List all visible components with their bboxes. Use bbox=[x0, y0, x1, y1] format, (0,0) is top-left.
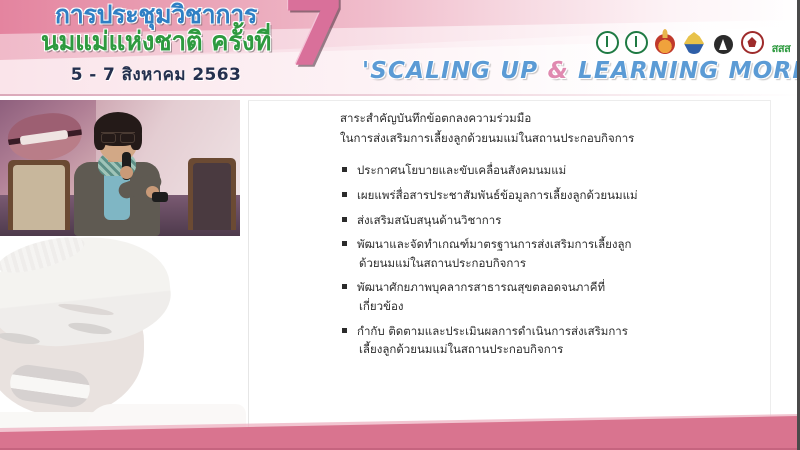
bullet-line: กำกับ ติดตามและประเมินผลการดำเนินการส่งเ… bbox=[357, 322, 700, 341]
presentation-slide: การประชุมวิชาการ นมแม่แห่งชาติ ครั้งที่ … bbox=[0, 0, 800, 450]
black-circle-emblem-logo bbox=[711, 24, 735, 54]
speaker-eyeglasses bbox=[101, 132, 135, 141]
conference-date: 5 - 7 สิงหาคม 2563 bbox=[16, 61, 296, 88]
content-panel-right-edge bbox=[770, 100, 771, 430]
tagline-prefix: 'SCALING UP bbox=[362, 58, 548, 84]
content-lead-line-2: ในการส่งเสริมการเลี้ยงลูกด้วยนมแม่ในสถาน… bbox=[340, 128, 700, 148]
conference-title-line2: นมแม่แห่งชาติ ครั้งที่ bbox=[16, 29, 296, 56]
bullet-line: ส่งเสริมสนับสนุนด้านวิชาการ bbox=[357, 211, 700, 230]
list-item: พัฒนาและจัดทำเกณฑ์มาตรฐานการส่งเสริมการเ… bbox=[340, 235, 700, 272]
bullet-line: พัฒนาศักยภาพบุคลากรสาธารณสุขตลอดจนภาคีที… bbox=[357, 278, 700, 297]
speaker-presentation-photo bbox=[0, 100, 240, 236]
slide-content: สาระสำคัญบันทึกข้อตกลงความร่วมมือ ในการส… bbox=[340, 108, 700, 365]
department-of-health-logo bbox=[624, 24, 648, 54]
speaker-hand bbox=[120, 166, 133, 179]
smiling-child-in-sun-hat-photo bbox=[0, 236, 248, 450]
presenter-remote-icon bbox=[152, 192, 168, 202]
sponsor-logo-strip: สสส bbox=[566, 24, 793, 54]
content-lead-line-1: สาระสำคัญบันทึกข้อตกลงความร่วมมือ bbox=[340, 108, 700, 128]
conference-title-block: การประชุมวิชาการ นมแม่แห่งชาติ ครั้งที่ … bbox=[16, 2, 296, 88]
list-item: ประกาศนโยบายและขับเคลื่อนสังคมนมแม่ bbox=[340, 161, 700, 180]
conference-title-line1: การประชุมวิชาการ bbox=[16, 2, 296, 28]
tagline-ampersand: & bbox=[548, 58, 569, 84]
child-shirt bbox=[86, 404, 246, 450]
stage-chair-left bbox=[8, 160, 70, 230]
bullet-line: เลี้ยงลูกด้วยนมแม่ในสถานประกอบกิจการ bbox=[357, 340, 700, 359]
content-bullet-list: ประกาศนโยบายและขับเคลื่อนสังคมนมแม่ เผยแ… bbox=[340, 161, 700, 359]
content-divider bbox=[248, 100, 249, 430]
watermark-inner bbox=[0, 236, 244, 450]
media-column bbox=[0, 96, 248, 450]
ministry-of-public-health-logo bbox=[595, 24, 619, 54]
bullet-line: พัฒนาและจัดทำเกณฑ์มาตรฐานการส่งเสริมการเ… bbox=[357, 235, 700, 254]
stage-chair-right bbox=[188, 158, 236, 230]
bullet-line: ประกาศนโยบายและขับเคลื่อนสังคมนมแม่ bbox=[357, 161, 700, 180]
thai-crown-emblem-logo bbox=[653, 24, 677, 54]
bullet-line: ด้วยนมแม่ในสถานประกอบกิจการ bbox=[357, 254, 700, 273]
list-item: ส่งเสริมสนับสนุนด้านวิชาการ bbox=[340, 211, 700, 230]
bullet-line: เกี่ยวข้อง bbox=[357, 297, 700, 316]
content-lead: สาระสำคัญบันทึกข้อตกลงความร่วมมือ ในการส… bbox=[340, 108, 700, 148]
list-item: เผยแพร่สื่อสารประชาสัมพันธ์ข้อมูลการเลี้… bbox=[340, 186, 700, 205]
tagline-suffix: LEARNING MORE' bbox=[569, 58, 800, 84]
red-circle-emblem-logo bbox=[740, 24, 764, 54]
bullet-line: เผยแพร่สื่อสารประชาสัมพันธ์ข้อมูลการเลี้… bbox=[357, 186, 700, 205]
edition-number: 7 bbox=[282, 0, 346, 80]
thaihealth-sss-logo: สสส bbox=[769, 24, 793, 54]
royal-emblem-logo bbox=[566, 24, 590, 54]
list-item: พัฒนาศักยภาพบุคลากรสาธารณสุขตลอดจนภาคีที… bbox=[340, 278, 700, 315]
list-item: กำกับ ติดตามและประเมินผลการดำเนินการส่งเ… bbox=[340, 322, 700, 359]
conference-tagline: 'SCALING UP & LEARNING MORE' bbox=[362, 58, 800, 84]
thaihealth-wordmark: สสส bbox=[772, 43, 791, 54]
content-panel-top-edge bbox=[248, 100, 771, 101]
garuda-emblem-logo bbox=[682, 24, 706, 54]
